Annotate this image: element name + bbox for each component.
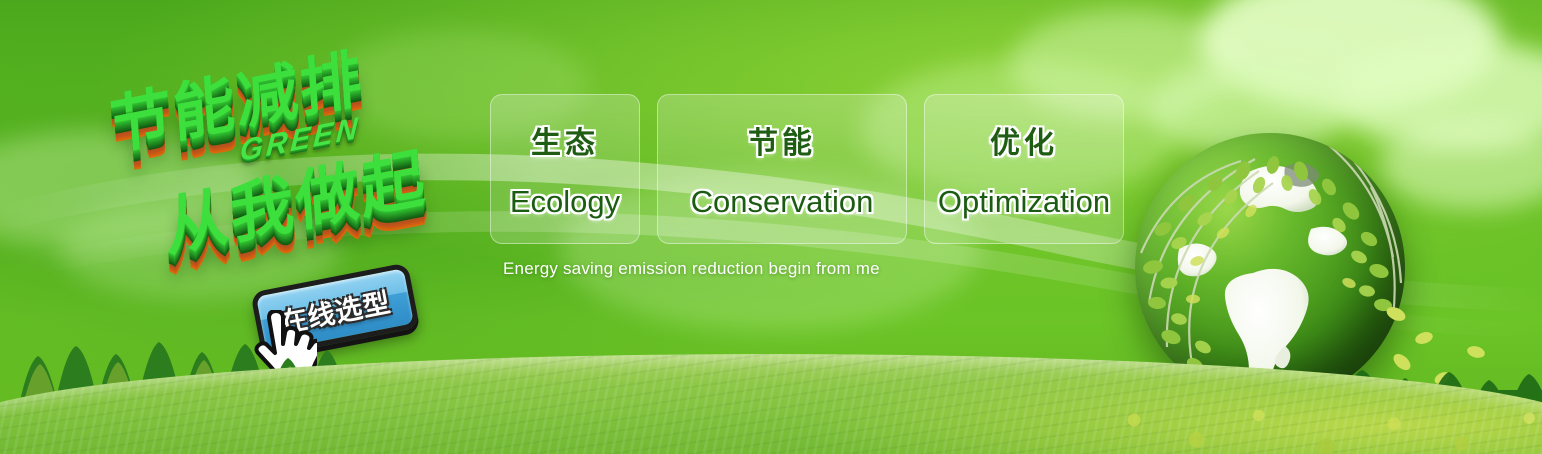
feature-card-cn-label: 生态 bbox=[531, 118, 599, 162]
feature-card-optimization[interactable]: 优化 Optimization bbox=[924, 94, 1124, 244]
feature-card-en-label: Conservation bbox=[691, 184, 874, 220]
cta-label: 在线选型 bbox=[276, 280, 393, 340]
online-selection-button[interactable]: 在线选型 bbox=[250, 262, 420, 357]
feature-card-cn-label: 优化 bbox=[990, 118, 1058, 162]
feature-card-cn-label: 节能 bbox=[748, 118, 816, 162]
feature-cards: 生态 Ecology 节能 Conservation 优化 Optimizati… bbox=[490, 94, 1124, 244]
cta-face[interactable]: 在线选型 bbox=[250, 262, 420, 357]
cloud bbox=[1200, 0, 1500, 110]
feature-card-conservation[interactable]: 节能 Conservation bbox=[657, 94, 907, 244]
feature-card-en-label: Ecology bbox=[510, 184, 620, 220]
eco-banner: 节能减排 GREEN 从我做起 在线选型 生态 Ecology 节能 Conse… bbox=[0, 0, 1542, 454]
logo-3d-slogan: 节能减排 GREEN 从我做起 bbox=[93, 29, 487, 270]
feature-card-ecology[interactable]: 生态 Ecology bbox=[490, 94, 640, 244]
banner-tagline: Energy saving emission reduction begin f… bbox=[503, 259, 880, 279]
feature-card-en-label: Optimization bbox=[938, 184, 1110, 220]
